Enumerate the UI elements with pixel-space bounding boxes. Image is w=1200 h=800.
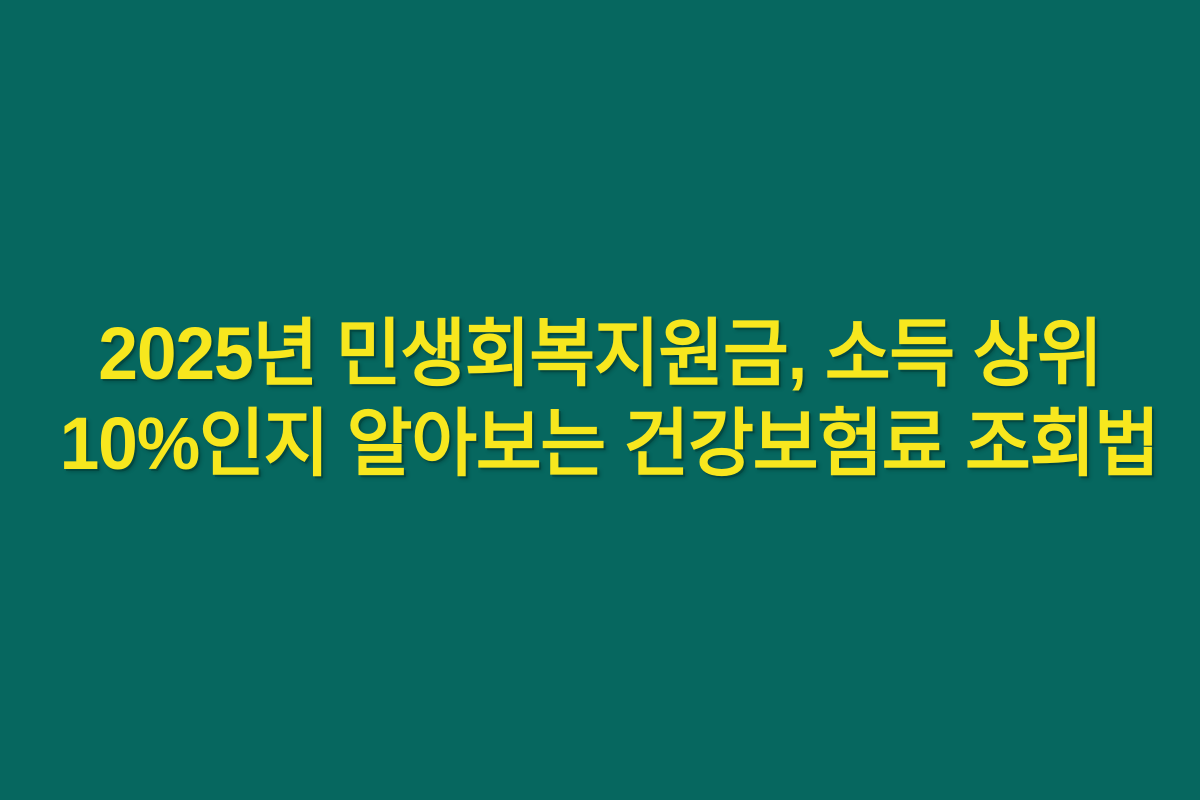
headline-block: 2025년 민생회복지원금, 소득 상위 10%인지 알아보는 건강보험료 조회… [40,309,1160,489]
thumbnail-card: 2025년 민생회복지원금, 소득 상위 10%인지 알아보는 건강보험료 조회… [0,0,1200,800]
headline-line-2: 10%인지 알아보는 건강보험료 조회법 [60,399,1141,489]
headline-line-1: 2025년 민생회복지원금, 소득 상위 [60,309,1141,399]
